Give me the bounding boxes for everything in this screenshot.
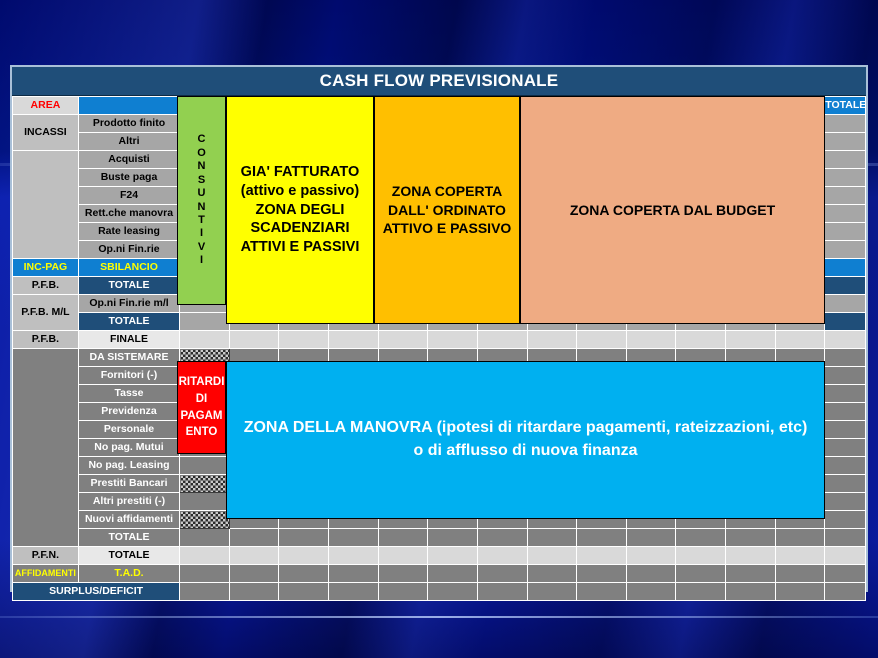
row-total-cell[interactable]: [825, 313, 866, 331]
data-cell[interactable]: [577, 565, 627, 583]
row-total-cell[interactable]: [825, 241, 866, 259]
data-cell[interactable]: [378, 547, 428, 565]
data-cell[interactable]: [676, 565, 726, 583]
row-total-cell[interactable]: [825, 367, 866, 385]
row-voice-label: TOTALE: [78, 547, 179, 565]
consuntivi-letter: T: [198, 214, 205, 227]
data-cell[interactable]: [676, 547, 726, 565]
data-cell[interactable]: [626, 583, 676, 601]
header-voice: [78, 97, 179, 115]
row-area-label: P.F.N.: [13, 547, 79, 565]
row-total-cell[interactable]: [825, 205, 866, 223]
row-voice-label: FINALE: [78, 331, 179, 349]
data-cell[interactable]: [775, 547, 825, 565]
row-voice-label: TOTALE: [78, 529, 179, 547]
consuntivi-letter: V: [198, 241, 205, 254]
data-cell[interactable]: [775, 529, 825, 547]
data-cell[interactable]: [378, 529, 428, 547]
row-total-cell[interactable]: [825, 349, 866, 367]
row-area-label: INC-PAG: [13, 259, 79, 277]
row-voice-label: F24: [78, 187, 179, 205]
data-cell[interactable]: [477, 331, 527, 349]
data-cell[interactable]: [676, 331, 726, 349]
row-voice-label: Op.ni Fin.rie: [78, 241, 179, 259]
data-cell[interactable]: [527, 331, 577, 349]
data-cell[interactable]: [180, 583, 230, 601]
row-total-cell[interactable]: [825, 331, 866, 349]
data-cell[interactable]: [180, 475, 230, 493]
zone-coperta-ordinato: ZONA COPERTADALL' ORDINATOATTIVO E PASSI…: [374, 96, 520, 324]
row-total-cell[interactable]: [825, 223, 866, 241]
data-cell[interactable]: [577, 331, 627, 349]
row-area-label: P.F.B.: [13, 277, 79, 295]
data-cell[interactable]: [775, 583, 825, 601]
data-cell[interactable]: [180, 565, 230, 583]
row-voice-label: Op.ni Fin.rie m/l: [78, 295, 179, 313]
data-cell[interactable]: [626, 547, 676, 565]
data-cell[interactable]: [676, 583, 726, 601]
data-cell[interactable]: [626, 331, 676, 349]
row-voice-label: Acquisti: [78, 151, 179, 169]
row-voice-label: SBILANCIO: [78, 259, 179, 277]
data-cell[interactable]: [279, 331, 329, 349]
row-area-label: P.F.B.: [13, 331, 79, 349]
consuntivi-letter: N: [198, 160, 206, 173]
row-area-label: INCASSI: [13, 115, 79, 151]
data-cell[interactable]: [180, 547, 230, 565]
data-cell[interactable]: [527, 529, 577, 547]
row-total-cell[interactable]: [825, 169, 866, 187]
consuntivi-letter: S: [198, 174, 205, 187]
row-area-label: [13, 151, 79, 259]
data-cell[interactable]: [726, 547, 776, 565]
data-cell[interactable]: [279, 565, 329, 583]
data-cell[interactable]: [577, 529, 627, 547]
table-row: AFFIDAMENTIT.A.D.: [13, 565, 866, 583]
zone-gia-fatturato: GIA' FATTURATO(attivo e passivo)ZONA DEG…: [226, 96, 374, 324]
data-cell[interactable]: [229, 565, 279, 583]
row-area-label: [13, 349, 79, 547]
data-cell[interactable]: [378, 331, 428, 349]
data-cell[interactable]: [428, 583, 478, 601]
table-row: P.F.N.TOTALE: [13, 547, 866, 565]
row-voice-label: TOTALE: [78, 313, 179, 331]
data-cell[interactable]: [527, 565, 577, 583]
data-cell[interactable]: [428, 565, 478, 583]
data-cell[interactable]: [279, 583, 329, 601]
row-voice-label: Personale: [78, 421, 179, 439]
row-total-cell[interactable]: [825, 547, 866, 565]
row-total-cell[interactable]: [825, 421, 866, 439]
row-total-cell[interactable]: [825, 403, 866, 421]
row-total-cell[interactable]: [825, 385, 866, 403]
data-cell[interactable]: [428, 529, 478, 547]
data-cell[interactable]: [726, 529, 776, 547]
row-voice-label: Rett.che manovra: [78, 205, 179, 223]
row-voice-label: Tasse: [78, 385, 179, 403]
row-voice-label: Previdenza: [78, 403, 179, 421]
row-voice-label: Rate leasing: [78, 223, 179, 241]
row-total-cell[interactable]: [825, 583, 866, 601]
data-cell[interactable]: [229, 529, 279, 547]
row-total-cell[interactable]: [825, 187, 866, 205]
data-cell[interactable]: [477, 565, 527, 583]
zone-coperta-budget: ZONA COPERTA DAL BUDGET: [520, 96, 825, 324]
data-cell[interactable]: [180, 511, 230, 529]
consuntivi-letter: N: [198, 201, 206, 214]
row-total-cell[interactable]: [825, 493, 866, 511]
table-row: P.F.B.FINALE: [13, 331, 866, 349]
row-voice-label: Altri prestiti (-): [78, 493, 179, 511]
row-total-cell[interactable]: [825, 475, 866, 493]
row-voice-label: Prodotto finito: [78, 115, 179, 133]
data-cell[interactable]: [477, 529, 527, 547]
data-cell[interactable]: [229, 547, 279, 565]
data-cell[interactable]: [329, 583, 379, 601]
data-cell[interactable]: [676, 529, 726, 547]
row-voice-label: Prestiti Bancari: [78, 475, 179, 493]
row-total-cell[interactable]: [825, 511, 866, 529]
row-total-cell[interactable]: [825, 529, 866, 547]
data-cell[interactable]: [726, 565, 776, 583]
row-voice-label: Buste paga: [78, 169, 179, 187]
data-cell[interactable]: [626, 529, 676, 547]
data-cell[interactable]: [775, 565, 825, 583]
slide-background-accent-line: [0, 616, 878, 618]
data-cell[interactable]: [477, 547, 527, 565]
header-area: AREA: [13, 97, 79, 115]
data-cell[interactable]: [180, 457, 230, 475]
row-voice-label: Nuovi affidamenti: [78, 511, 179, 529]
zone-ritardi-pagamento: RITARDIDIPAGAMENTO: [177, 361, 226, 454]
zone-manovra: ZONA DELLA MANOVRA (ipotesi di ritardare…: [226, 361, 825, 519]
data-cell[interactable]: [180, 529, 230, 547]
data-cell[interactable]: [428, 547, 478, 565]
row-total-cell[interactable]: [825, 277, 866, 295]
row-total-cell[interactable]: [825, 151, 866, 169]
data-cell[interactable]: [775, 331, 825, 349]
data-cell[interactable]: [378, 565, 428, 583]
data-cell[interactable]: [726, 583, 776, 601]
row-area-label: AFFIDAMENTI: [13, 565, 79, 583]
consuntivi-letter: I: [200, 227, 203, 240]
row-total-cell[interactable]: [825, 115, 866, 133]
row-total-cell[interactable]: [825, 457, 866, 475]
row-total-cell[interactable]: [825, 133, 866, 151]
row-voice-label: Fornitori (-): [78, 367, 179, 385]
data-cell[interactable]: [577, 547, 627, 565]
data-cell[interactable]: [626, 565, 676, 583]
data-cell[interactable]: [477, 583, 527, 601]
row-voice-label: DA SISTEMARE: [78, 349, 179, 367]
table-row: TOTALE: [13, 529, 866, 547]
zone-consuntivi: CONSUNTIVI: [177, 96, 226, 305]
data-cell[interactable]: [180, 493, 230, 511]
row-total-cell[interactable]: [825, 439, 866, 457]
row-total-cell[interactable]: [825, 295, 866, 313]
data-cell[interactable]: [329, 529, 379, 547]
data-cell[interactable]: [527, 547, 577, 565]
data-cell[interactable]: [329, 547, 379, 565]
data-cell[interactable]: [329, 331, 379, 349]
row-area-label: SURPLUS/DEFICIT: [13, 583, 180, 601]
table-row: SURPLUS/DEFICIT: [13, 583, 866, 601]
row-voice-label: No pag. Mutui: [78, 439, 179, 457]
row-voice-label: No pag. Leasing: [78, 457, 179, 475]
data-cell[interactable]: [577, 583, 627, 601]
data-cell[interactable]: [279, 529, 329, 547]
data-cell[interactable]: [378, 583, 428, 601]
row-total-cell[interactable]: [825, 565, 866, 583]
consuntivi-letter: C: [198, 133, 206, 146]
row-voice-label: TOTALE: [78, 277, 179, 295]
page-title: CASH FLOW PREVISIONALE: [12, 67, 866, 96]
data-cell[interactable]: [329, 565, 379, 583]
data-cell[interactable]: [229, 583, 279, 601]
row-total-cell[interactable]: [825, 259, 866, 277]
data-cell[interactable]: [428, 331, 478, 349]
row-area-label: P.F.B. M/L: [13, 295, 79, 331]
data-cell[interactable]: [229, 331, 279, 349]
data-cell[interactable]: [527, 583, 577, 601]
data-cell[interactable]: [180, 313, 230, 331]
consuntivi-letter: I: [200, 254, 203, 267]
consuntivi-letter: O: [197, 147, 206, 160]
data-cell[interactable]: [279, 547, 329, 565]
data-cell[interactable]: [726, 331, 776, 349]
row-voice-label: Altri: [78, 133, 179, 151]
header-total: TOTALE: [825, 97, 866, 115]
cash-flow-table: CASH FLOW PREVISIONALE AREAapr-19mag-19g…: [10, 65, 868, 592]
row-voice-label: T.A.D.: [78, 565, 179, 583]
data-cell[interactable]: [180, 331, 230, 349]
consuntivi-letter: U: [198, 187, 206, 200]
